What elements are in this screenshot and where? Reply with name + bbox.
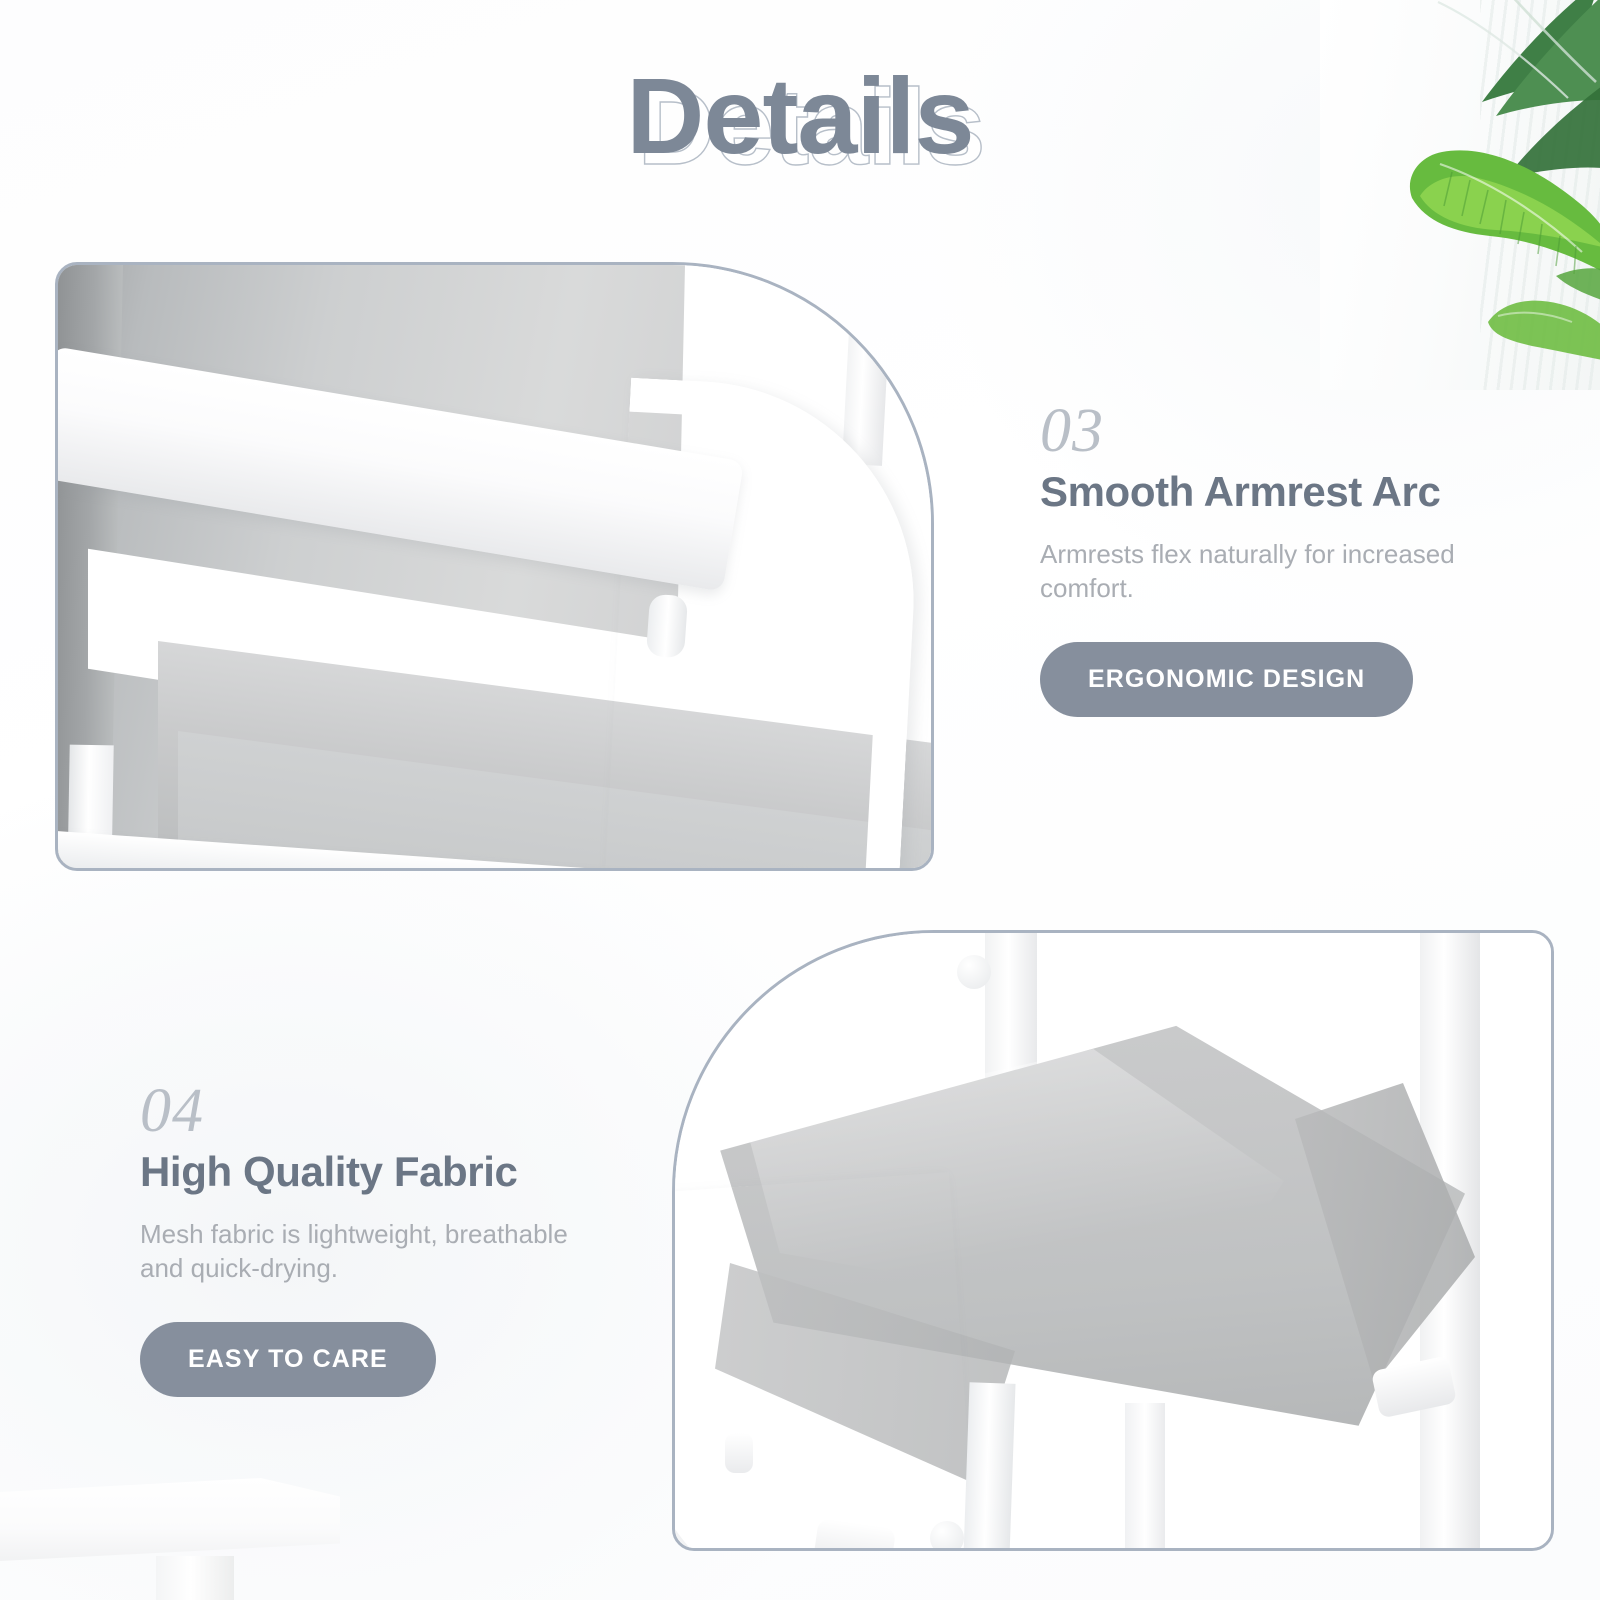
feature-photo-frame-03	[55, 262, 934, 871]
armrest-photo	[58, 265, 931, 868]
badge-ergonomic-design[interactable]: ERGONOMIC DESIGN	[1040, 642, 1413, 717]
feature-headline-03: Smooth Armrest Arc	[1040, 468, 1510, 515]
badge-easy-to-care[interactable]: EASY TO CARE	[140, 1322, 436, 1397]
feature-number-03: 03	[1040, 400, 1510, 462]
details-page: Details Details 03 Smooth Armrest Arc Ar…	[0, 0, 1600, 1600]
feature-description-03: Armrests flex naturally for increased co…	[1040, 537, 1510, 606]
mesh-seat-photo	[675, 933, 1551, 1548]
page-title: Details Details	[0, 62, 1600, 222]
page-title-text: Details	[626, 55, 973, 176]
feature-headline-04: High Quality Fabric	[140, 1148, 610, 1195]
feature-block-04: 04 High Quality Fabric Mesh fabric is li…	[140, 1080, 610, 1397]
white-table-corner	[0, 1478, 360, 1600]
feature-block-03: 03 Smooth Armrest Arc Armrests flex natu…	[1040, 400, 1510, 717]
feature-photo-frame-04	[672, 930, 1554, 1551]
feature-description-04: Mesh fabric is lightweight, breathable a…	[140, 1217, 610, 1286]
feature-number-04: 04	[140, 1080, 610, 1142]
